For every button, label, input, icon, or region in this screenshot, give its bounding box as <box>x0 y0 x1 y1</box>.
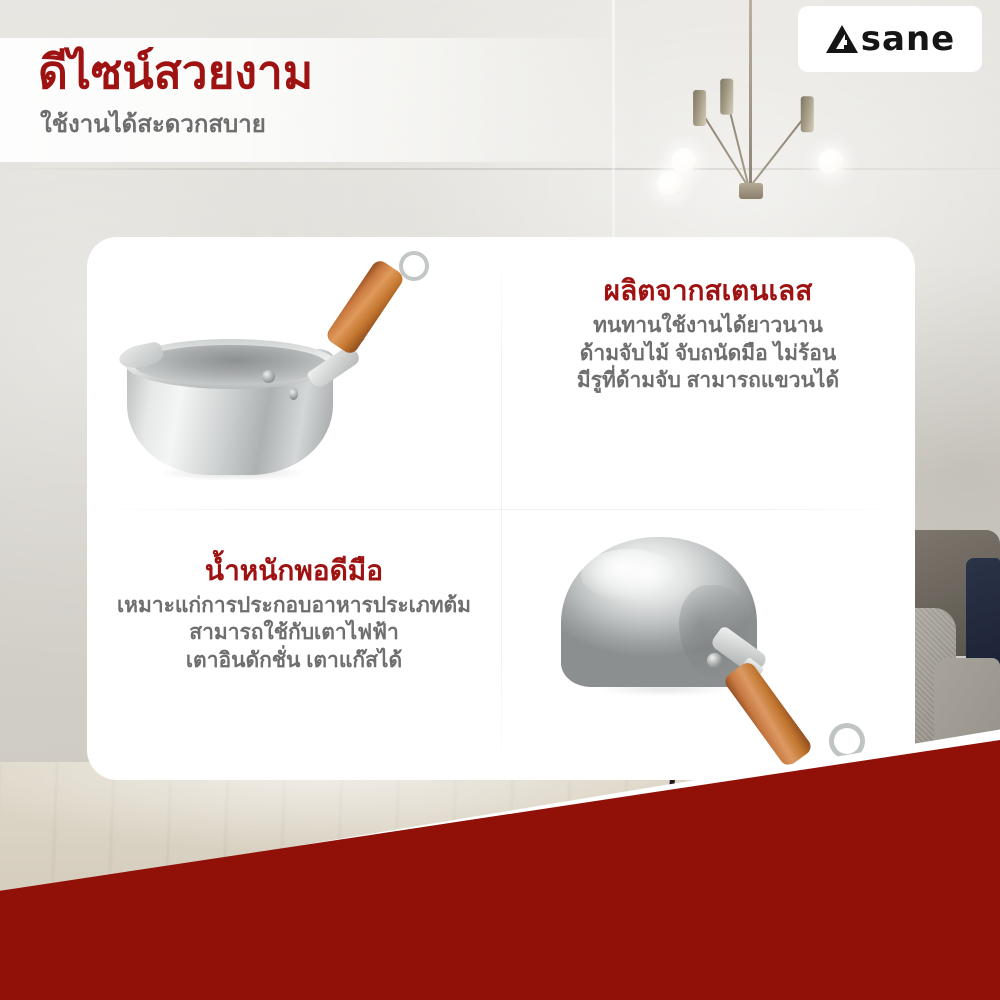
saucepan-open-view-icon <box>109 265 489 489</box>
lamp-rod <box>749 0 752 188</box>
lamp-bulb-icon <box>818 149 844 175</box>
sofa-pillow <box>966 558 1000 668</box>
lamp-arm <box>697 106 750 188</box>
product-feature-banner: ดีไซน์สวยงาม ใช้งานได้สะดวกสบาย sane <box>0 0 1000 1000</box>
lamp-arm <box>725 95 750 189</box>
feature-title: น้ำหนักพอดีมือ <box>101 553 487 588</box>
pan-interior <box>134 345 328 385</box>
saucepan-inverted-view-icon <box>529 527 909 777</box>
feature-line: เหมาะแก่การประกอบอาหารประเภทต้ม <box>101 592 487 620</box>
wooden-handle <box>722 659 814 768</box>
feature-line: สามารถใช้กับเตาไฟฟ้า <box>101 619 487 647</box>
feature-line: มีรูที่ด้ามจับ สามารถแขวนได้ <box>515 367 901 395</box>
pan-rivet <box>289 388 298 400</box>
feature-title: ผลิตจากสเตนเลส <box>515 273 901 308</box>
page-title: ดีไซน์สวยงาม <box>38 48 313 96</box>
product-image-top-left <box>87 237 501 509</box>
feature-line: เตาอินดักชั่น เตาแก๊สได้ <box>101 647 487 675</box>
feature-line: ด้ามจับไม้ จับถนัดมือ ไม่ร้อน <box>515 340 901 368</box>
pan-rivet <box>707 653 722 668</box>
feature-block-stainless: ผลิตจากสเตนเลส ทนทานใช้งานได้ยาวนาน ด้าม… <box>501 237 915 509</box>
lamp-hub <box>739 183 763 199</box>
triangle-a-mark-icon <box>825 24 859 54</box>
lamp-socket <box>693 90 706 126</box>
brand-wordmark: sane <box>861 22 955 56</box>
lamp-bulb-icon <box>671 148 697 174</box>
page-subtitle: ใช้งานได้สะดวกสบาย <box>40 112 266 138</box>
pan-rivet <box>262 370 275 383</box>
lamp-bulb-icon <box>657 171 683 197</box>
lamp-socket <box>801 96 814 132</box>
wooden-handle <box>324 258 406 357</box>
feature-line: ทนทานใช้งานได้ยาวนาน <box>515 312 901 340</box>
feature-block-weight: น้ำหนักพอดีมือ เหมาะแก่การประกอบอาหารประ… <box>87 509 501 781</box>
lamp-arm <box>748 112 809 189</box>
lamp-socket <box>720 79 733 115</box>
product-image-bottom-right <box>501 509 915 781</box>
feature-card: ผลิตจากสเตนเลส ทนทานใช้งานได้ยาวนาน ด้าม… <box>87 237 915 780</box>
brand-logo: sane <box>798 6 982 72</box>
pan-highlight <box>581 549 677 601</box>
